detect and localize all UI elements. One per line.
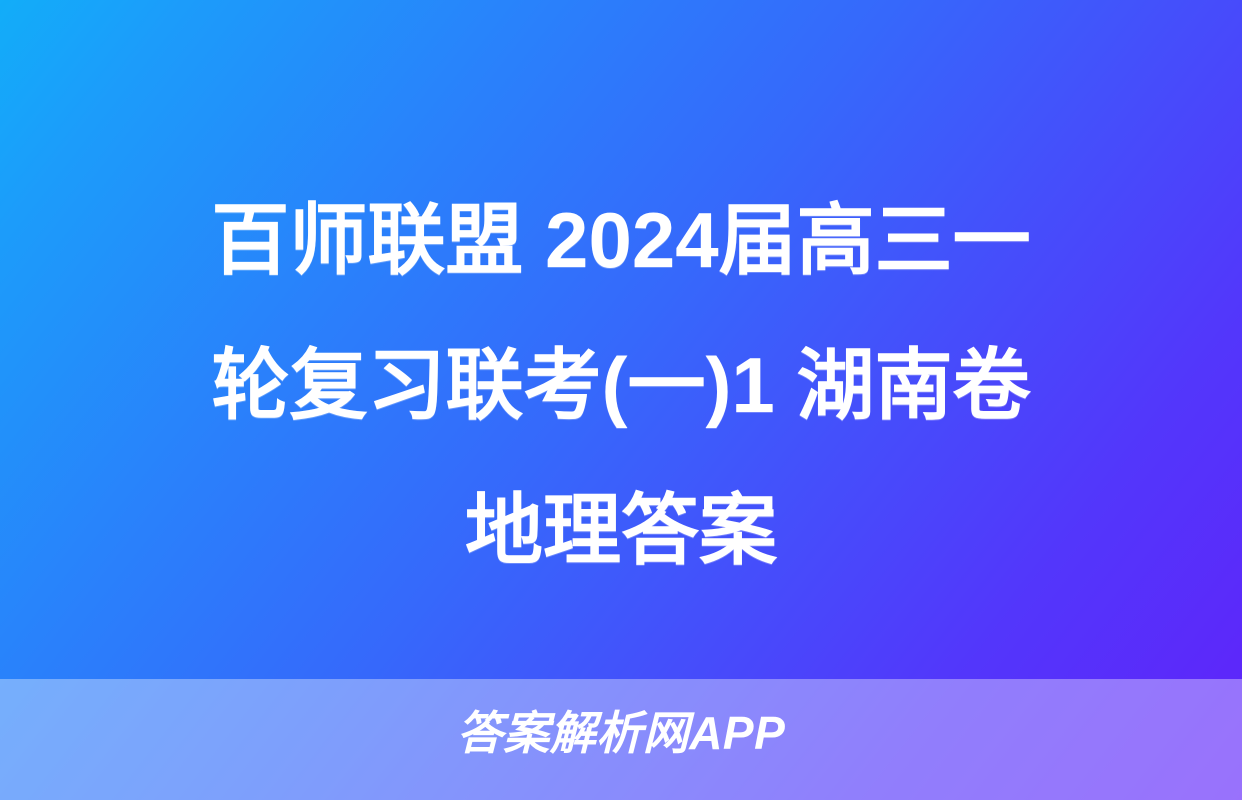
title-line-3: 地理答案	[40, 458, 1202, 603]
poster-canvas: 百师联盟 2024届高三一 轮复习联考(一)1 湖南卷 地理答案 答案解析网AP…	[0, 0, 1242, 800]
title-line-1: 百师联盟 2024届高三一	[40, 168, 1202, 313]
page-title: 百师联盟 2024届高三一 轮复习联考(一)1 湖南卷 地理答案	[0, 168, 1242, 603]
title-line-2: 轮复习联考(一)1 湖南卷	[40, 313, 1202, 458]
watermark-brand-label: 答案解析网APP	[0, 705, 1242, 761]
